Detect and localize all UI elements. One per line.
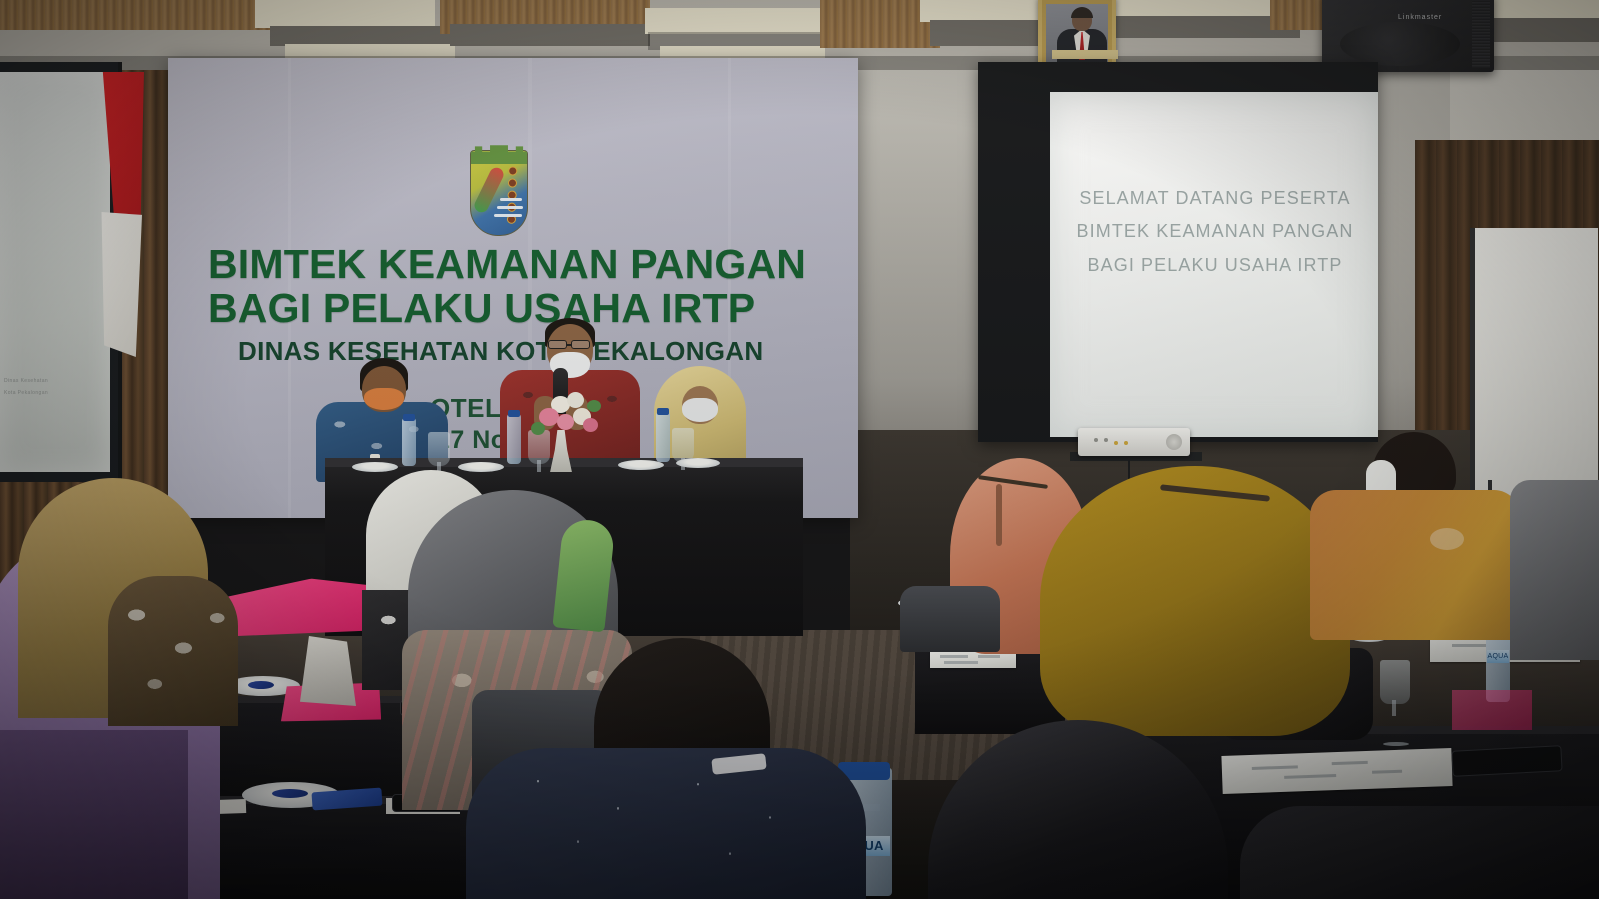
attendee-right-edge bbox=[1510, 480, 1599, 660]
head-table-bottle-1 bbox=[402, 418, 416, 466]
slide-content: SELAMAT DATANG PESERTA BIMTEK KEAMANAN P… bbox=[1060, 182, 1370, 282]
flag-white-stripe bbox=[98, 212, 142, 357]
head-table-bottle-2 bbox=[507, 414, 521, 464]
orange-batik-man-shirt bbox=[1310, 490, 1520, 640]
pink-item-right bbox=[1452, 690, 1532, 730]
head-table-bottle-2-cap bbox=[508, 410, 520, 417]
indonesian-flag bbox=[96, 72, 146, 352]
left-projection-screen bbox=[0, 72, 110, 472]
head-table-plate-3 bbox=[618, 460, 664, 470]
slide-line-2: BIMTEK KEAMANAN PANGAN bbox=[1060, 215, 1370, 248]
slide-line-3: BAGI PELAKU USAHA IRTP bbox=[1060, 249, 1370, 282]
projector bbox=[1078, 428, 1190, 456]
speaker-brand-label: Linkmaster bbox=[1398, 14, 1442, 21]
left-screen-footer-line1: Dinas Kesehatan bbox=[4, 378, 104, 386]
left-screen-footer-line2: Kota Pekalongan bbox=[4, 390, 104, 398]
speaker-grille bbox=[1472, 0, 1490, 68]
glass-front-right-foot bbox=[1383, 742, 1409, 746]
portrait-inner bbox=[1046, 4, 1108, 62]
head-table-plate-4 bbox=[676, 458, 720, 468]
portrait-nameplate bbox=[1052, 50, 1118, 59]
navy-shirt-man-shirt bbox=[466, 748, 866, 899]
salmon-khimar-tie bbox=[996, 484, 1002, 546]
attendee-dark-khimar-front bbox=[928, 720, 1228, 899]
glass-front-right-stem bbox=[1392, 700, 1396, 716]
flag-red-stripe bbox=[102, 72, 144, 220]
emblem-battlement bbox=[471, 144, 527, 164]
head-table-glass-1 bbox=[428, 432, 450, 466]
meeting-room-photo: Dinas Kesehatan Kota Pekalongan bbox=[0, 0, 1599, 899]
panelist-center-glasses-bridge bbox=[566, 344, 572, 346]
head-table-bottle-3-cap bbox=[657, 408, 669, 415]
projector-lens bbox=[1166, 434, 1182, 450]
attendee-front-right-edge bbox=[1240, 806, 1599, 899]
panelist-left-mask bbox=[364, 388, 404, 410]
attendee-right-edge-body bbox=[1510, 480, 1599, 660]
portrait-hair bbox=[1071, 7, 1093, 18]
attendee-orange-batik-man bbox=[1310, 432, 1520, 638]
patterned-pouch-left bbox=[300, 636, 356, 706]
purple-hijab-shoulder-shadow bbox=[0, 730, 188, 899]
flower-arrangement bbox=[525, 392, 605, 440]
attendee-navy-shirt-man bbox=[466, 638, 866, 899]
banner-title-line-1: BIMTEK KEAMANAN PANGAN bbox=[208, 243, 828, 287]
panelist-center-glasses-right bbox=[571, 340, 590, 349]
pekalongan-city-emblem bbox=[470, 140, 528, 236]
orange-batik-man-motif bbox=[1430, 528, 1464, 550]
panelist-center-glasses-left bbox=[548, 340, 567, 349]
head-table-bottle-3 bbox=[656, 412, 670, 462]
official-portrait bbox=[1038, 0, 1116, 70]
head-table-glass-3 bbox=[672, 428, 694, 462]
speaker-cone bbox=[1340, 22, 1460, 66]
head-table-bottle-1-cap bbox=[403, 414, 415, 421]
chair-center-right bbox=[900, 586, 1000, 652]
attendee-mustard-khimar bbox=[1040, 466, 1350, 736]
attendee-front-right-edge-body bbox=[1240, 806, 1599, 899]
glass-front-right bbox=[1380, 660, 1410, 704]
paper-front-right-1 bbox=[1221, 748, 1452, 794]
slide-line-1: SELAMAT DATANG PESERTA bbox=[1060, 182, 1370, 215]
head-table-glass-2-stem bbox=[537, 460, 541, 472]
dark-khimar-cloth bbox=[928, 720, 1228, 899]
mustard-khimar-cloth bbox=[1040, 466, 1350, 736]
panelist-right-mask bbox=[682, 398, 718, 422]
aqua-bottle-front-right-label: AQUA bbox=[1487, 650, 1509, 663]
batik-pattern-cloth bbox=[108, 576, 238, 726]
attendee-batik-pattern-left bbox=[108, 576, 238, 726]
